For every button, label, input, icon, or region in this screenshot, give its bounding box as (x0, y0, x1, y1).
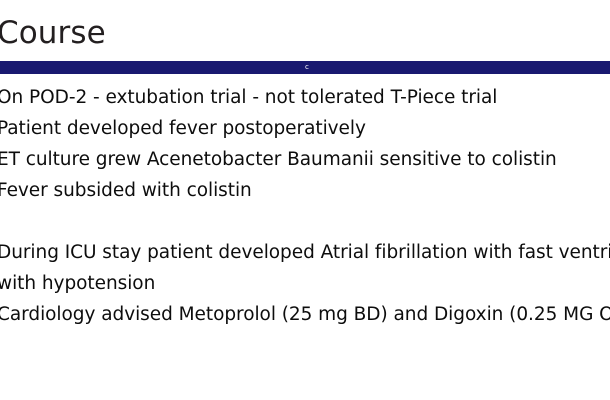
body-line: During ICU stay patient developed Atrial… (0, 237, 610, 268)
body-line: ET culture grew Acenetobacter Baumanii s… (0, 144, 610, 175)
body-line-blank (0, 206, 610, 237)
divider-bar-label: c (0, 61, 610, 74)
presentation-slide: Course c On POD-2 - extubation trial - n… (0, 0, 610, 400)
title-divider-bar: c (0, 61, 610, 74)
slide-body-text: On POD-2 - extubation trial - not tolera… (0, 82, 610, 330)
body-line: Cardiology advised Metoprolol (25 mg BD)… (0, 299, 610, 330)
slide-title: Course (0, 14, 610, 54)
body-line: Patient developed fever postoperatively (0, 113, 610, 144)
body-line: with hypotension (0, 268, 610, 299)
body-line: On POD-2 - extubation trial - not tolera… (0, 82, 610, 113)
body-line: Fever subsided with colistin (0, 175, 610, 206)
